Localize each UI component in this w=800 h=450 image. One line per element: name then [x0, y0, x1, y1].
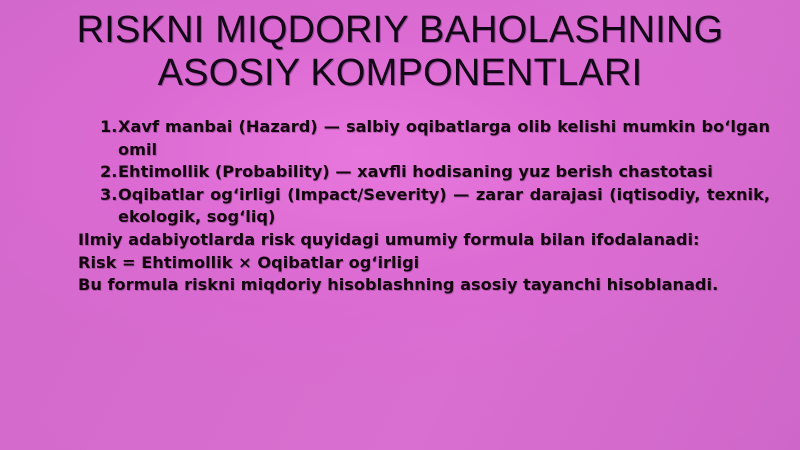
slide-body: Xavf manbai (Hazard) — salbiy oqibatlarg… [78, 116, 770, 297]
page-title: RISKNI MIQDORIY BAHOLASHNING ASOSIY KOMP… [40, 9, 760, 95]
list-item: Oqibatlar ogʻirligi (Impact/Severity) — … [100, 184, 770, 229]
components-list: Xavf manbai (Hazard) — salbiy oqibatlarg… [78, 116, 770, 229]
conclusion-paragraph: Bu formula riskni miqdoriy hisoblashning… [78, 274, 770, 297]
slide-canvas: RISKNI MIQDORIY BAHOLASHNING ASOSIY KOMP… [0, 0, 800, 450]
formula-line: Risk = Ehtimollik × Oqibatlar ogʻirligi [78, 252, 770, 275]
list-item: Xavf manbai (Hazard) — salbiy oqibatlarg… [100, 116, 770, 161]
intro-paragraph: Ilmiy adabiyotlarda risk quyidagi umumiy… [78, 229, 770, 252]
list-item: Ehtimollik (Probability) — xavfli hodisa… [100, 161, 770, 184]
